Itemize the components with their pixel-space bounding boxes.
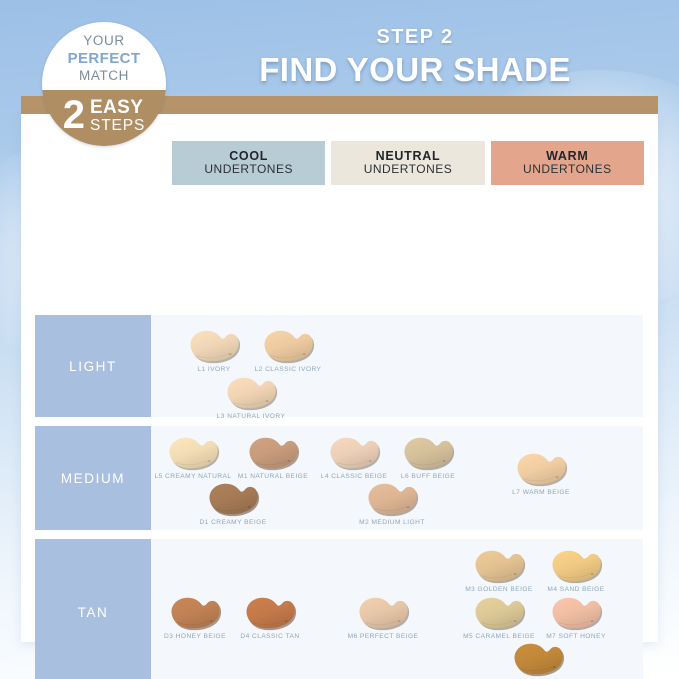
shade-blob-icon xyxy=(512,450,570,488)
shade-name-label: L6 BUFF BEIGE xyxy=(372,473,484,480)
shade-swatch[interactable]: M2 MEDIUM LIGHT xyxy=(336,480,448,526)
page-title: FIND YOUR SHADE xyxy=(180,51,650,89)
shade-name-label: L3 NATURAL IVORY xyxy=(195,413,307,420)
badge-line-perfect: PERFECT xyxy=(68,50,141,69)
shade-row-tan: TANM3 GOLDEN BEIGEM4 SAND BEIGED3 HONEY … xyxy=(35,539,643,679)
badge-bottom-half: 2 EASY STEPS xyxy=(42,90,166,146)
shade-swatch[interactable]: L7 WARM BEIGE xyxy=(485,450,597,496)
shade-blob-icon xyxy=(399,434,457,472)
shade-row-medium: MEDIUML5 CREAMY NATURALM1 NATURAL BEIGEL… xyxy=(35,426,643,530)
shade-blob-icon xyxy=(222,374,280,412)
badge-line-match: MATCH xyxy=(79,68,129,85)
row-body: L5 CREAMY NATURALM1 NATURAL BEIGEL4 CLAS… xyxy=(151,426,643,530)
badge-steps-label: STEPS xyxy=(90,118,145,134)
undertone-sublabel: UNDERTONES xyxy=(523,163,612,176)
undertone-name: NEUTRAL xyxy=(376,149,441,163)
shade-name-label: L2 CLASSIC IVORY xyxy=(232,366,344,373)
shade-blob-icon xyxy=(164,434,222,472)
shade-name-label: L7 WARM BEIGE xyxy=(485,489,597,496)
header-title-group: STEP 2 FIND YOUR SHADE xyxy=(180,26,650,89)
row-label-medium: MEDIUM xyxy=(35,426,151,530)
shade-swatch[interactable]: D4 CLASSIC TAN xyxy=(214,594,326,640)
shade-swatch[interactable]: D1 CREAMY BEIGE xyxy=(177,480,289,526)
row-label-tan: TAN xyxy=(35,539,151,679)
shade-blob-icon xyxy=(547,594,605,632)
undertone-name: WARM xyxy=(546,149,588,163)
shade-blob-icon xyxy=(244,434,302,472)
row-label-text: TAN xyxy=(78,605,109,620)
badge-top-half: YOUR PERFECT MATCH xyxy=(42,22,166,90)
shade-blob-icon xyxy=(241,594,299,632)
row-label-light: LIGHT xyxy=(35,315,151,417)
shade-blob-icon xyxy=(363,480,421,518)
shade-blob-icon xyxy=(204,480,262,518)
shade-blob-icon xyxy=(547,547,605,585)
shade-name-label: M6 PERFECT BEIGE xyxy=(327,633,439,640)
undertone-header-warm: WARMUNDERTONES xyxy=(491,141,644,185)
step-label: STEP 2 xyxy=(180,26,650,49)
shade-name-label: D1 CREAMY BEIGE xyxy=(177,519,289,526)
shade-swatch[interactable]: M7 SOFT HONEY xyxy=(520,594,632,640)
row-label-text: LIGHT xyxy=(69,359,117,374)
shade-chart-card: COOLUNDERTONESNEUTRALUNDERTONESWARMUNDER… xyxy=(21,114,658,642)
badge-step-number: 2 xyxy=(63,97,85,133)
row-label-text: MEDIUM xyxy=(61,471,125,486)
shade-swatch[interactable]: M6 PERFECT BEIGE xyxy=(327,594,439,640)
shade-blob-icon xyxy=(509,640,567,678)
row-body: L1 IVORYL2 CLASSIC IVORYL3 NATURAL IVORY xyxy=(151,315,643,417)
shade-name-label: M2 MEDIUM LIGHT xyxy=(336,519,448,526)
shade-blob-icon xyxy=(354,594,412,632)
shade-row-light: LIGHTL1 IVORYL2 CLASSIC IVORYL3 NATURAL … xyxy=(35,315,643,417)
shade-swatch[interactable]: L2 CLASSIC IVORY xyxy=(232,327,344,373)
shade-name-label: M4 SAND BEIGE xyxy=(520,586,632,593)
undertone-header-neutral: NEUTRALUNDERTONES xyxy=(331,141,484,185)
undertone-header-cool: COOLUNDERTONES xyxy=(172,141,325,185)
shade-blob-icon xyxy=(259,327,317,365)
shade-swatch[interactable]: D2 SUN BEIGE xyxy=(482,640,594,679)
shade-swatch[interactable]: L3 NATURAL IVORY xyxy=(195,374,307,420)
badge-line-your: YOUR xyxy=(83,33,124,50)
shade-name-label: D4 CLASSIC TAN xyxy=(214,633,326,640)
undertone-sublabel: UNDERTONES xyxy=(204,163,293,176)
row-body: M3 GOLDEN BEIGEM4 SAND BEIGED3 HONEY BEI… xyxy=(151,539,643,679)
undertone-name: COOL xyxy=(229,149,268,163)
badge-words: EASY STEPS xyxy=(90,98,145,133)
shade-swatch[interactable]: L6 BUFF BEIGE xyxy=(372,434,484,480)
shade-name-label: M7 SOFT HONEY xyxy=(520,633,632,640)
perfect-match-badge: YOUR PERFECT MATCH 2 EASY STEPS xyxy=(42,22,166,146)
badge-easy-label: EASY xyxy=(90,98,145,117)
shade-swatch[interactable]: M4 SAND BEIGE xyxy=(520,547,632,593)
undertone-header-row: COOLUNDERTONESNEUTRALUNDERTONESWARMUNDER… xyxy=(172,141,644,185)
undertone-sublabel: UNDERTONES xyxy=(364,163,453,176)
